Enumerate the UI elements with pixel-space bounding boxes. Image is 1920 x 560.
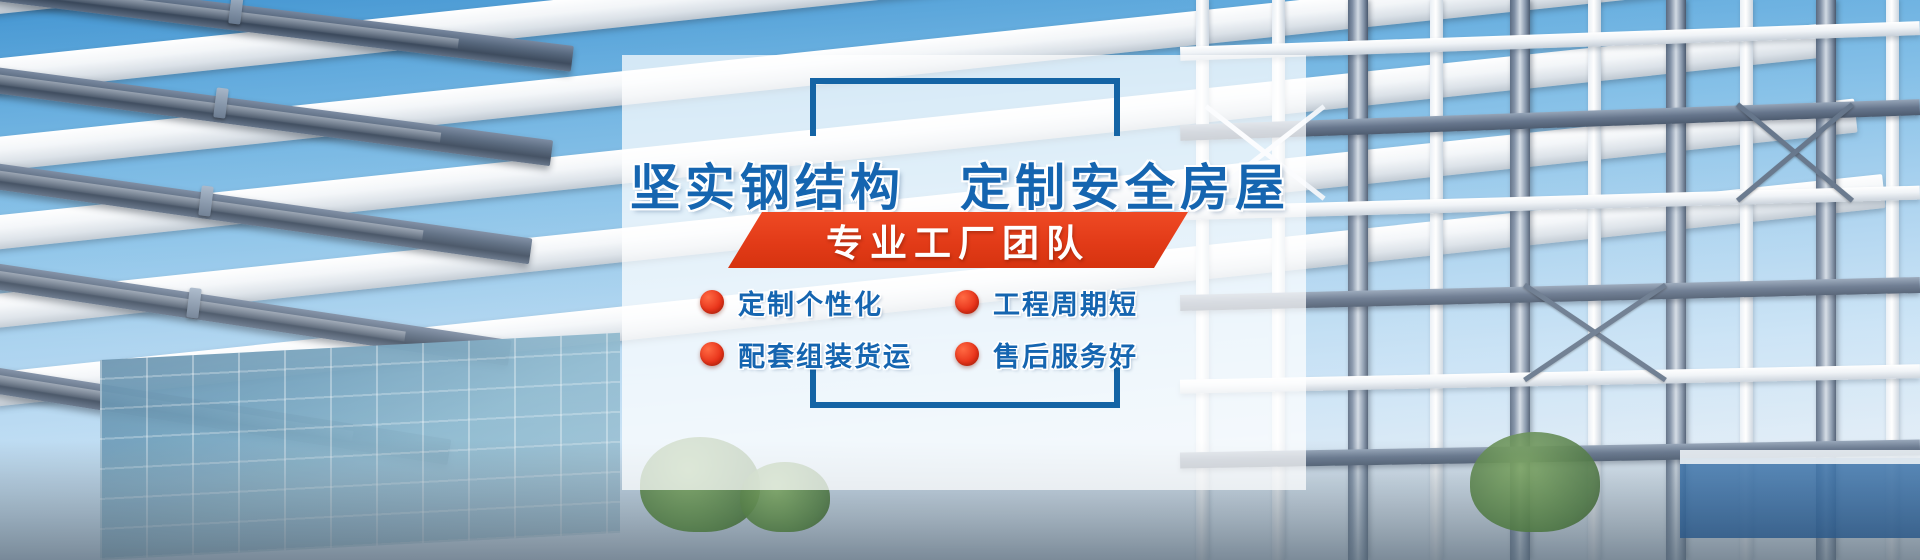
promo-banner: 坚实钢结构 定制安全房屋 专业工厂团队 定制个性化 工程周期短 配套组装货运 售… (0, 0, 1920, 560)
red-dot-icon (700, 290, 724, 314)
feature-list: 定制个性化 工程周期短 配套组装货运 售后服务好 (700, 276, 1240, 380)
feature-item: 配套组装货运 (700, 335, 955, 374)
headline-text: 坚实钢结构 定制安全房屋 (0, 148, 1920, 220)
red-dot-icon (955, 342, 979, 366)
feature-label: 售后服务好 (993, 335, 1138, 374)
feature-row: 配套组装货运 售后服务好 (700, 328, 1240, 380)
feature-item: 售后服务好 (955, 335, 1138, 374)
feature-label: 定制个性化 (738, 283, 883, 322)
red-dot-icon (955, 290, 979, 314)
feature-label: 工程周期短 (993, 283, 1138, 322)
red-dot-icon (700, 342, 724, 366)
content-panel (622, 55, 1306, 490)
badge-banner: 专业工厂团队 (728, 212, 1188, 268)
feature-item: 工程周期短 (955, 283, 1138, 322)
feature-item: 定制个性化 (700, 283, 955, 322)
badge-label: 专业工厂团队 (826, 213, 1090, 267)
feature-row: 定制个性化 工程周期短 (700, 276, 1240, 328)
feature-label: 配套组装货运 (738, 335, 912, 374)
